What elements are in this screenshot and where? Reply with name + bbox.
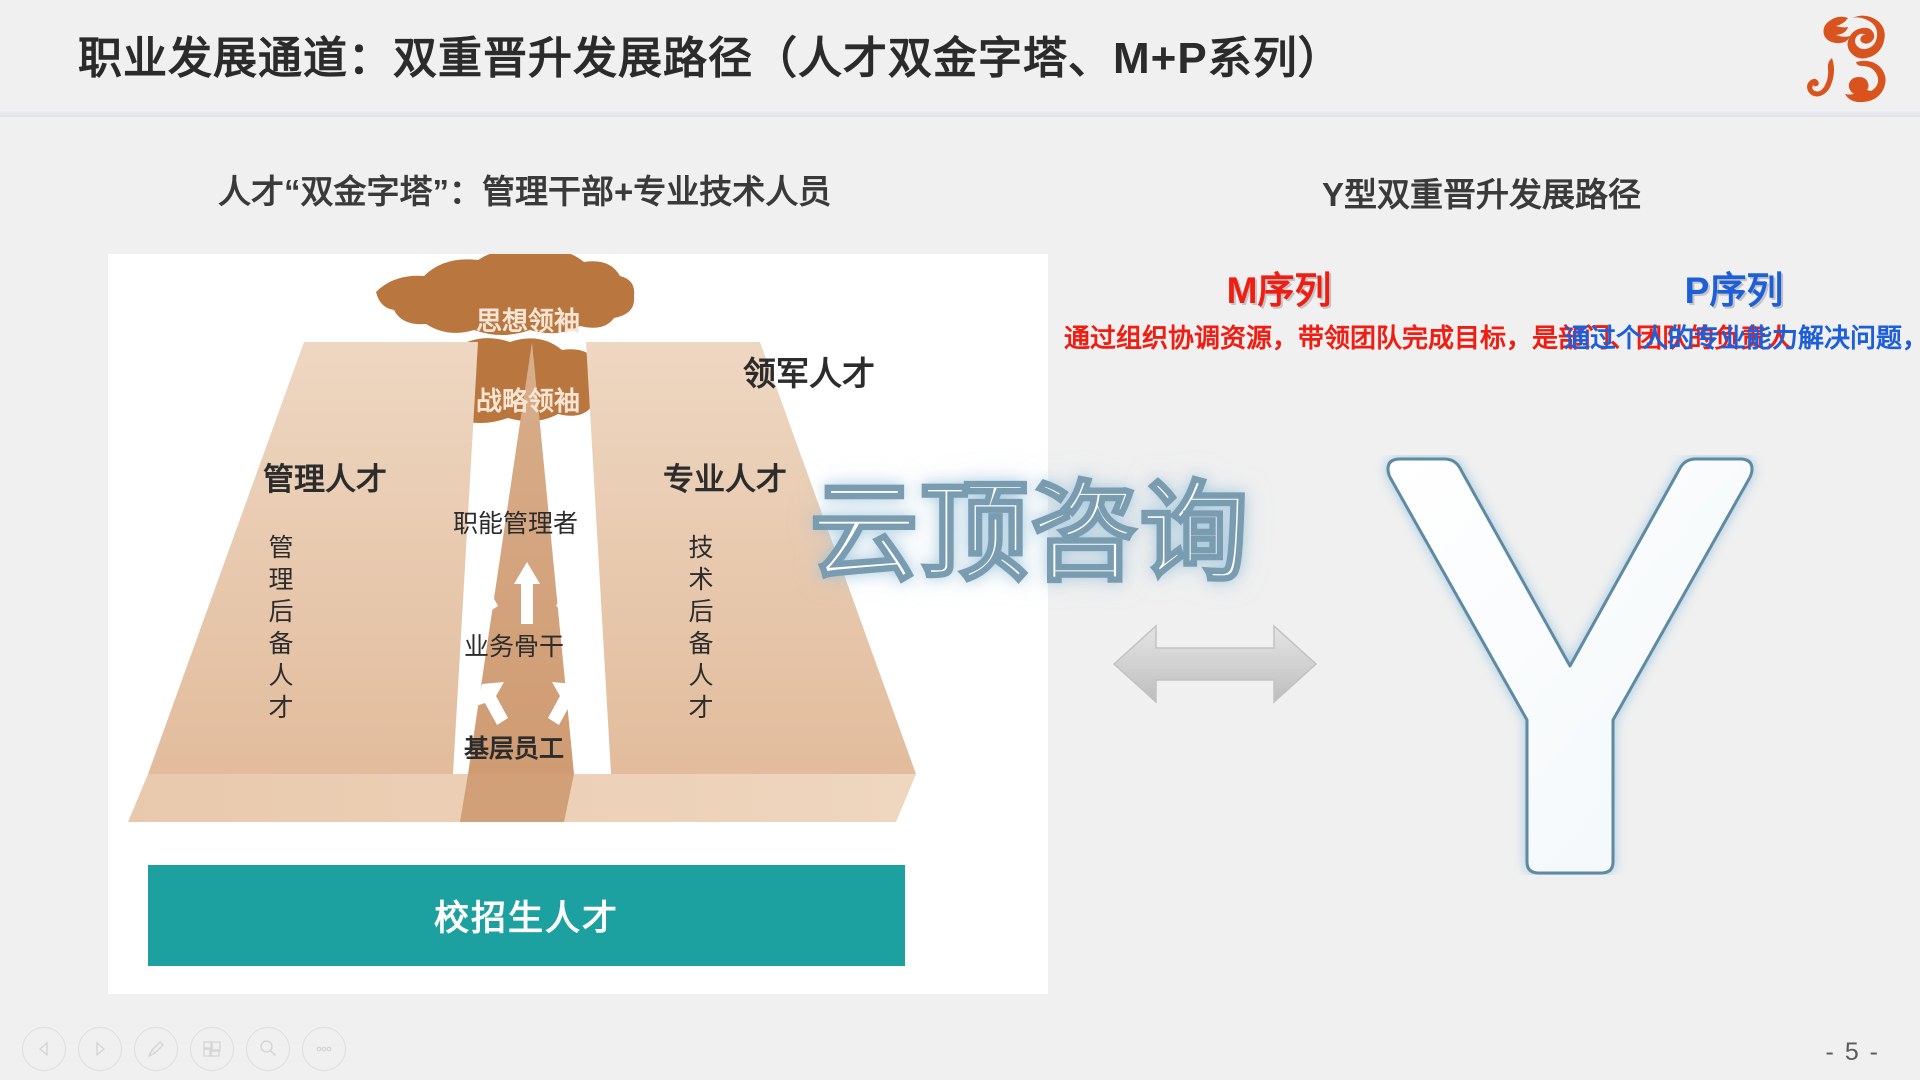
label-functional-manager: 职能管理者 bbox=[453, 504, 578, 540]
cloud-label-strategy-leader: 战略领袖 bbox=[408, 381, 648, 418]
y-path-shape bbox=[1370, 455, 1770, 875]
left-right-arrow-icon bbox=[1110, 618, 1320, 710]
m-sequence-title: M序列 bbox=[1064, 272, 1494, 311]
pen-icon[interactable] bbox=[134, 1027, 178, 1071]
previous-slide-icon[interactable] bbox=[22, 1027, 66, 1071]
label-technical-reserve-talent: 技术后备人才 bbox=[686, 534, 711, 726]
m-sequence-body: 通过组织协调资源，带领团队完成目标，是部门、团队的负责人 bbox=[1064, 320, 1494, 357]
m-sequence-block: M序列 通过组织协调资源，带领团队完成目标，是部门、团队的负责人 bbox=[1064, 272, 1494, 357]
cloud-label-thought-leader: 思想领袖 bbox=[408, 301, 648, 338]
calligraphy-logo bbox=[1806, 4, 1902, 108]
label-business-backbone: 业务骨干 bbox=[464, 627, 564, 663]
header-divider bbox=[0, 110, 1920, 117]
pyramid-diagram: 思想领袖 战略领袖 领军人才 管理人才 专业人才 职能管理者 业务骨干 基层员工… bbox=[108, 254, 1048, 994]
page-number: - 5 - bbox=[1826, 1038, 1880, 1067]
right-section-caption: Y型双重晋升发展路径 bbox=[1322, 168, 1641, 216]
more-options-icon[interactable] bbox=[302, 1027, 346, 1071]
pyramid-panel: 思想领袖 战略领袖 领军人才 管理人才 专业人才 职能管理者 业务骨干 基层员工… bbox=[108, 254, 1048, 994]
pyramid-shelf-core bbox=[460, 774, 574, 822]
label-leading-talent: 领军人才 bbox=[743, 347, 875, 395]
label-frontline-staff: 基层员工 bbox=[464, 729, 564, 765]
p-sequence-title: P序列 bbox=[1564, 272, 1904, 311]
slide-header: 职业发展通道：双重晋升发展路径（人才双金字塔、M+P系列） bbox=[0, 0, 1920, 110]
slide-footer-toolbar: - 5 - bbox=[0, 1020, 1920, 1080]
base-bar-label: 校招生人才 bbox=[434, 890, 619, 941]
p-sequence-block: P序列 通过个人的专业能力解决问题，达成目标 bbox=[1564, 272, 1904, 357]
next-slide-icon[interactable] bbox=[78, 1027, 122, 1071]
left-section-caption: 人才“双金字塔”：管理干部+专业技术人员 bbox=[218, 165, 831, 213]
slide-layout-icon[interactable] bbox=[190, 1027, 234, 1071]
zoom-icon[interactable] bbox=[246, 1027, 290, 1071]
p-sequence-body: 通过个人的专业能力解决问题，达成目标 bbox=[1564, 320, 1904, 357]
page-title: 职业发展通道：双重晋升发展路径（人才双金字塔、M+P系列） bbox=[78, 22, 1343, 86]
label-professional-talent: 专业人才 bbox=[663, 454, 787, 499]
slide-root: 职业发展通道：双重晋升发展路径（人才双金字塔、M+P系列） 人才“双金字塔”：管… bbox=[0, 0, 1920, 1080]
label-management-reserve-talent: 管理后备人才 bbox=[266, 534, 291, 726]
campus-recruit-base-bar: 校招生人才 bbox=[148, 865, 905, 966]
label-management-talent: 管理人才 bbox=[263, 454, 387, 499]
